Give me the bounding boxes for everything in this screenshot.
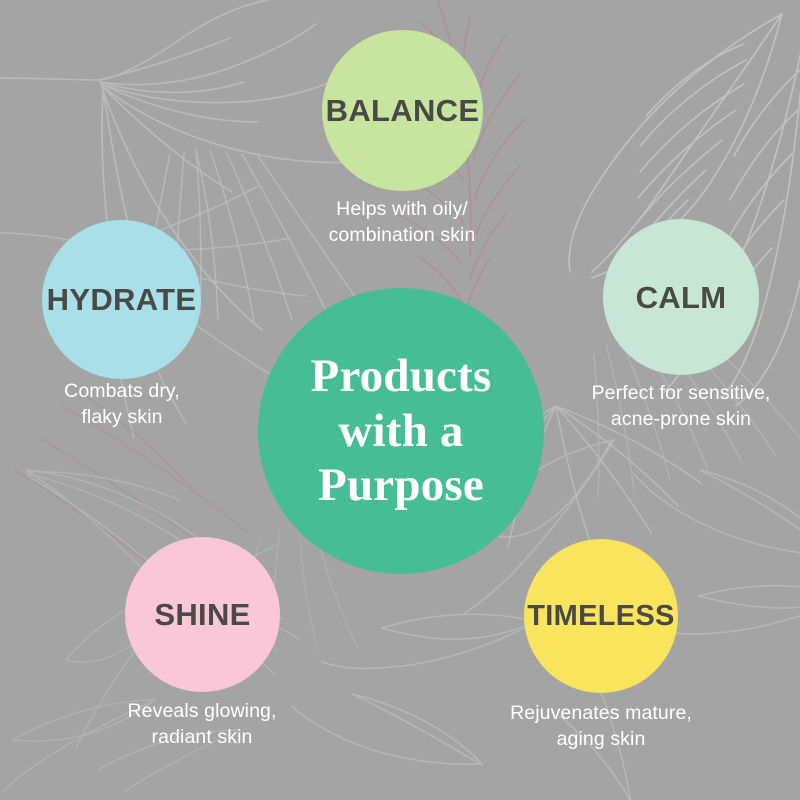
benefit-caption-calm: Perfect for sensitive, acne-prone skin [551, 381, 800, 432]
benefit-caption-balance: Helps with oily/ combination skin [272, 197, 532, 248]
center-node: Products with a Purpose [258, 288, 544, 574]
benefit-label-shine: SHINE [154, 599, 250, 630]
benefit-node-timeless: TIMELESS [524, 539, 678, 693]
benefit-caption-shine: Reveals glowing, radiant skin [72, 699, 332, 750]
benefit-node-hydrate: HYDRATE [42, 220, 201, 379]
benefit-node-calm: CALM [603, 219, 759, 375]
benefit-circle-calm[interactable]: CALM [603, 219, 759, 375]
center-title: Products with a Purpose [311, 349, 492, 514]
benefit-label-balance: BALANCE [326, 95, 480, 126]
benefit-caption-timeless: Rejuvenates mature, aging skin [471, 701, 731, 752]
benefit-caption-hydrate: Combats dry, flaky skin [0, 379, 252, 430]
benefit-label-calm: CALM [636, 282, 727, 313]
benefit-node-shine: SHINE [125, 537, 280, 692]
benefit-label-timeless: TIMELESS [527, 602, 674, 631]
benefit-circle-shine[interactable]: SHINE [125, 537, 280, 692]
benefit-circle-timeless[interactable]: TIMELESS [524, 539, 678, 693]
infographic-canvas: Products with a Purpose BALANCE Helps wi… [0, 0, 800, 800]
benefit-node-balance: BALANCE [322, 30, 483, 191]
benefit-circle-balance[interactable]: BALANCE [322, 30, 483, 191]
center-circle[interactable]: Products with a Purpose [258, 288, 544, 574]
benefit-circle-hydrate[interactable]: HYDRATE [42, 220, 201, 379]
benefit-label-hydrate: HYDRATE [47, 284, 197, 315]
